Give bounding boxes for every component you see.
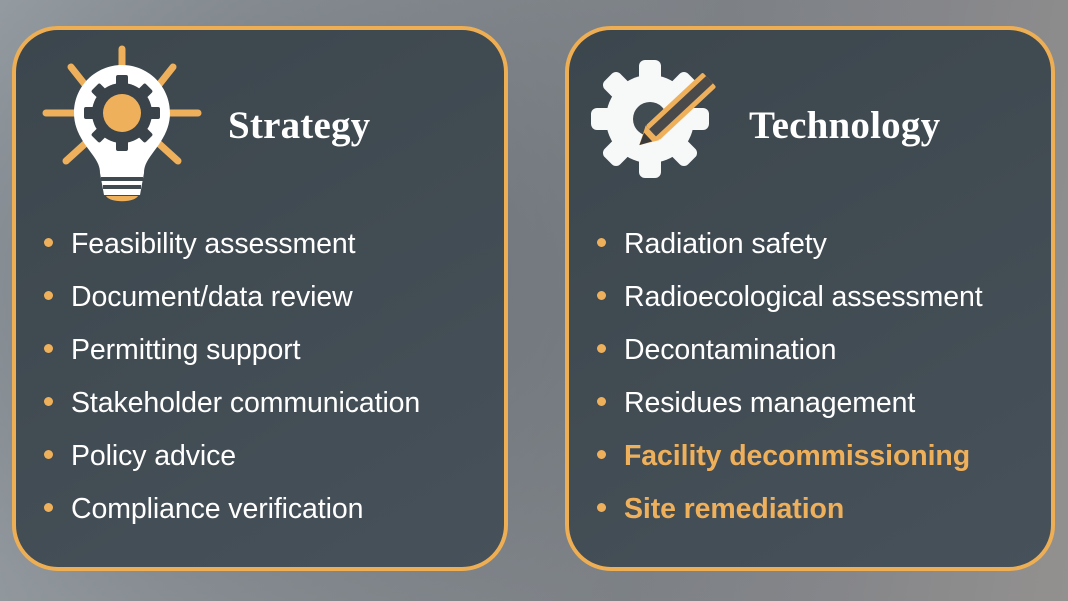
list-item-label: Radioecological assessment: [624, 283, 983, 312]
card-strategy-header: Strategy: [16, 30, 504, 220]
bullet-dot-icon: [597, 291, 606, 300]
card-strategy[interactable]: Strategy Feasibility assessment Document…: [12, 26, 508, 571]
card-strategy-title: Strategy: [228, 103, 370, 148]
list-item[interactable]: Permitting support: [16, 336, 504, 389]
list-item-label: Compliance verification: [71, 495, 363, 524]
list-item-label: Decontamination: [624, 336, 836, 365]
list-item[interactable]: Site remediation: [569, 495, 1051, 548]
bullet-dot-icon: [597, 344, 606, 353]
bullet-dot-icon: [597, 450, 606, 459]
card-technology-header: Technology: [569, 30, 1051, 220]
bullet-dot-icon: [597, 397, 606, 406]
strategy-bullet-list: Feasibility assessment Document/data rev…: [16, 230, 504, 548]
bullet-dot-icon: [44, 397, 53, 406]
lightbulb-gear-icon: [38, 43, 206, 208]
list-item-label: Site remediation: [624, 495, 844, 524]
list-item[interactable]: Stakeholder communication: [16, 389, 504, 442]
bullet-dot-icon: [44, 450, 53, 459]
list-item[interactable]: Document/data review: [16, 283, 504, 336]
bullet-dot-icon: [44, 291, 53, 300]
list-item-label: Radiation safety: [624, 230, 827, 259]
list-item[interactable]: Feasibility assessment: [16, 230, 504, 283]
list-item[interactable]: Compliance verification: [16, 495, 504, 548]
list-item-label: Feasibility assessment: [71, 230, 355, 259]
slide-canvas: Strategy Feasibility assessment Document…: [0, 0, 1068, 601]
bullet-dot-icon: [44, 238, 53, 247]
bullet-dot-icon: [597, 238, 606, 247]
list-item-label: Residues management: [624, 389, 915, 418]
list-item[interactable]: Decontamination: [569, 336, 1051, 389]
gear-pencil-icon: [587, 58, 727, 192]
list-item-label: Policy advice: [71, 442, 236, 471]
technology-bullet-list: Radiation safety Radioecological assessm…: [569, 230, 1051, 548]
list-item-label: Permitting support: [71, 336, 300, 365]
list-item-label: Stakeholder communication: [71, 389, 420, 418]
list-item[interactable]: Radiation safety: [569, 230, 1051, 283]
list-item[interactable]: Facility decommissioning: [569, 442, 1051, 495]
list-item-label: Document/data review: [71, 283, 353, 312]
card-technology-title: Technology: [749, 103, 940, 148]
list-item[interactable]: Radioecological assessment: [569, 283, 1051, 336]
list-item[interactable]: Policy advice: [16, 442, 504, 495]
list-item[interactable]: Residues management: [569, 389, 1051, 442]
bullet-dot-icon: [44, 503, 53, 512]
card-technology[interactable]: Technology Radiation safety Radioecologi…: [565, 26, 1055, 571]
bullet-dot-icon: [44, 344, 53, 353]
list-item-label: Facility decommissioning: [624, 442, 970, 471]
bullet-dot-icon: [597, 503, 606, 512]
